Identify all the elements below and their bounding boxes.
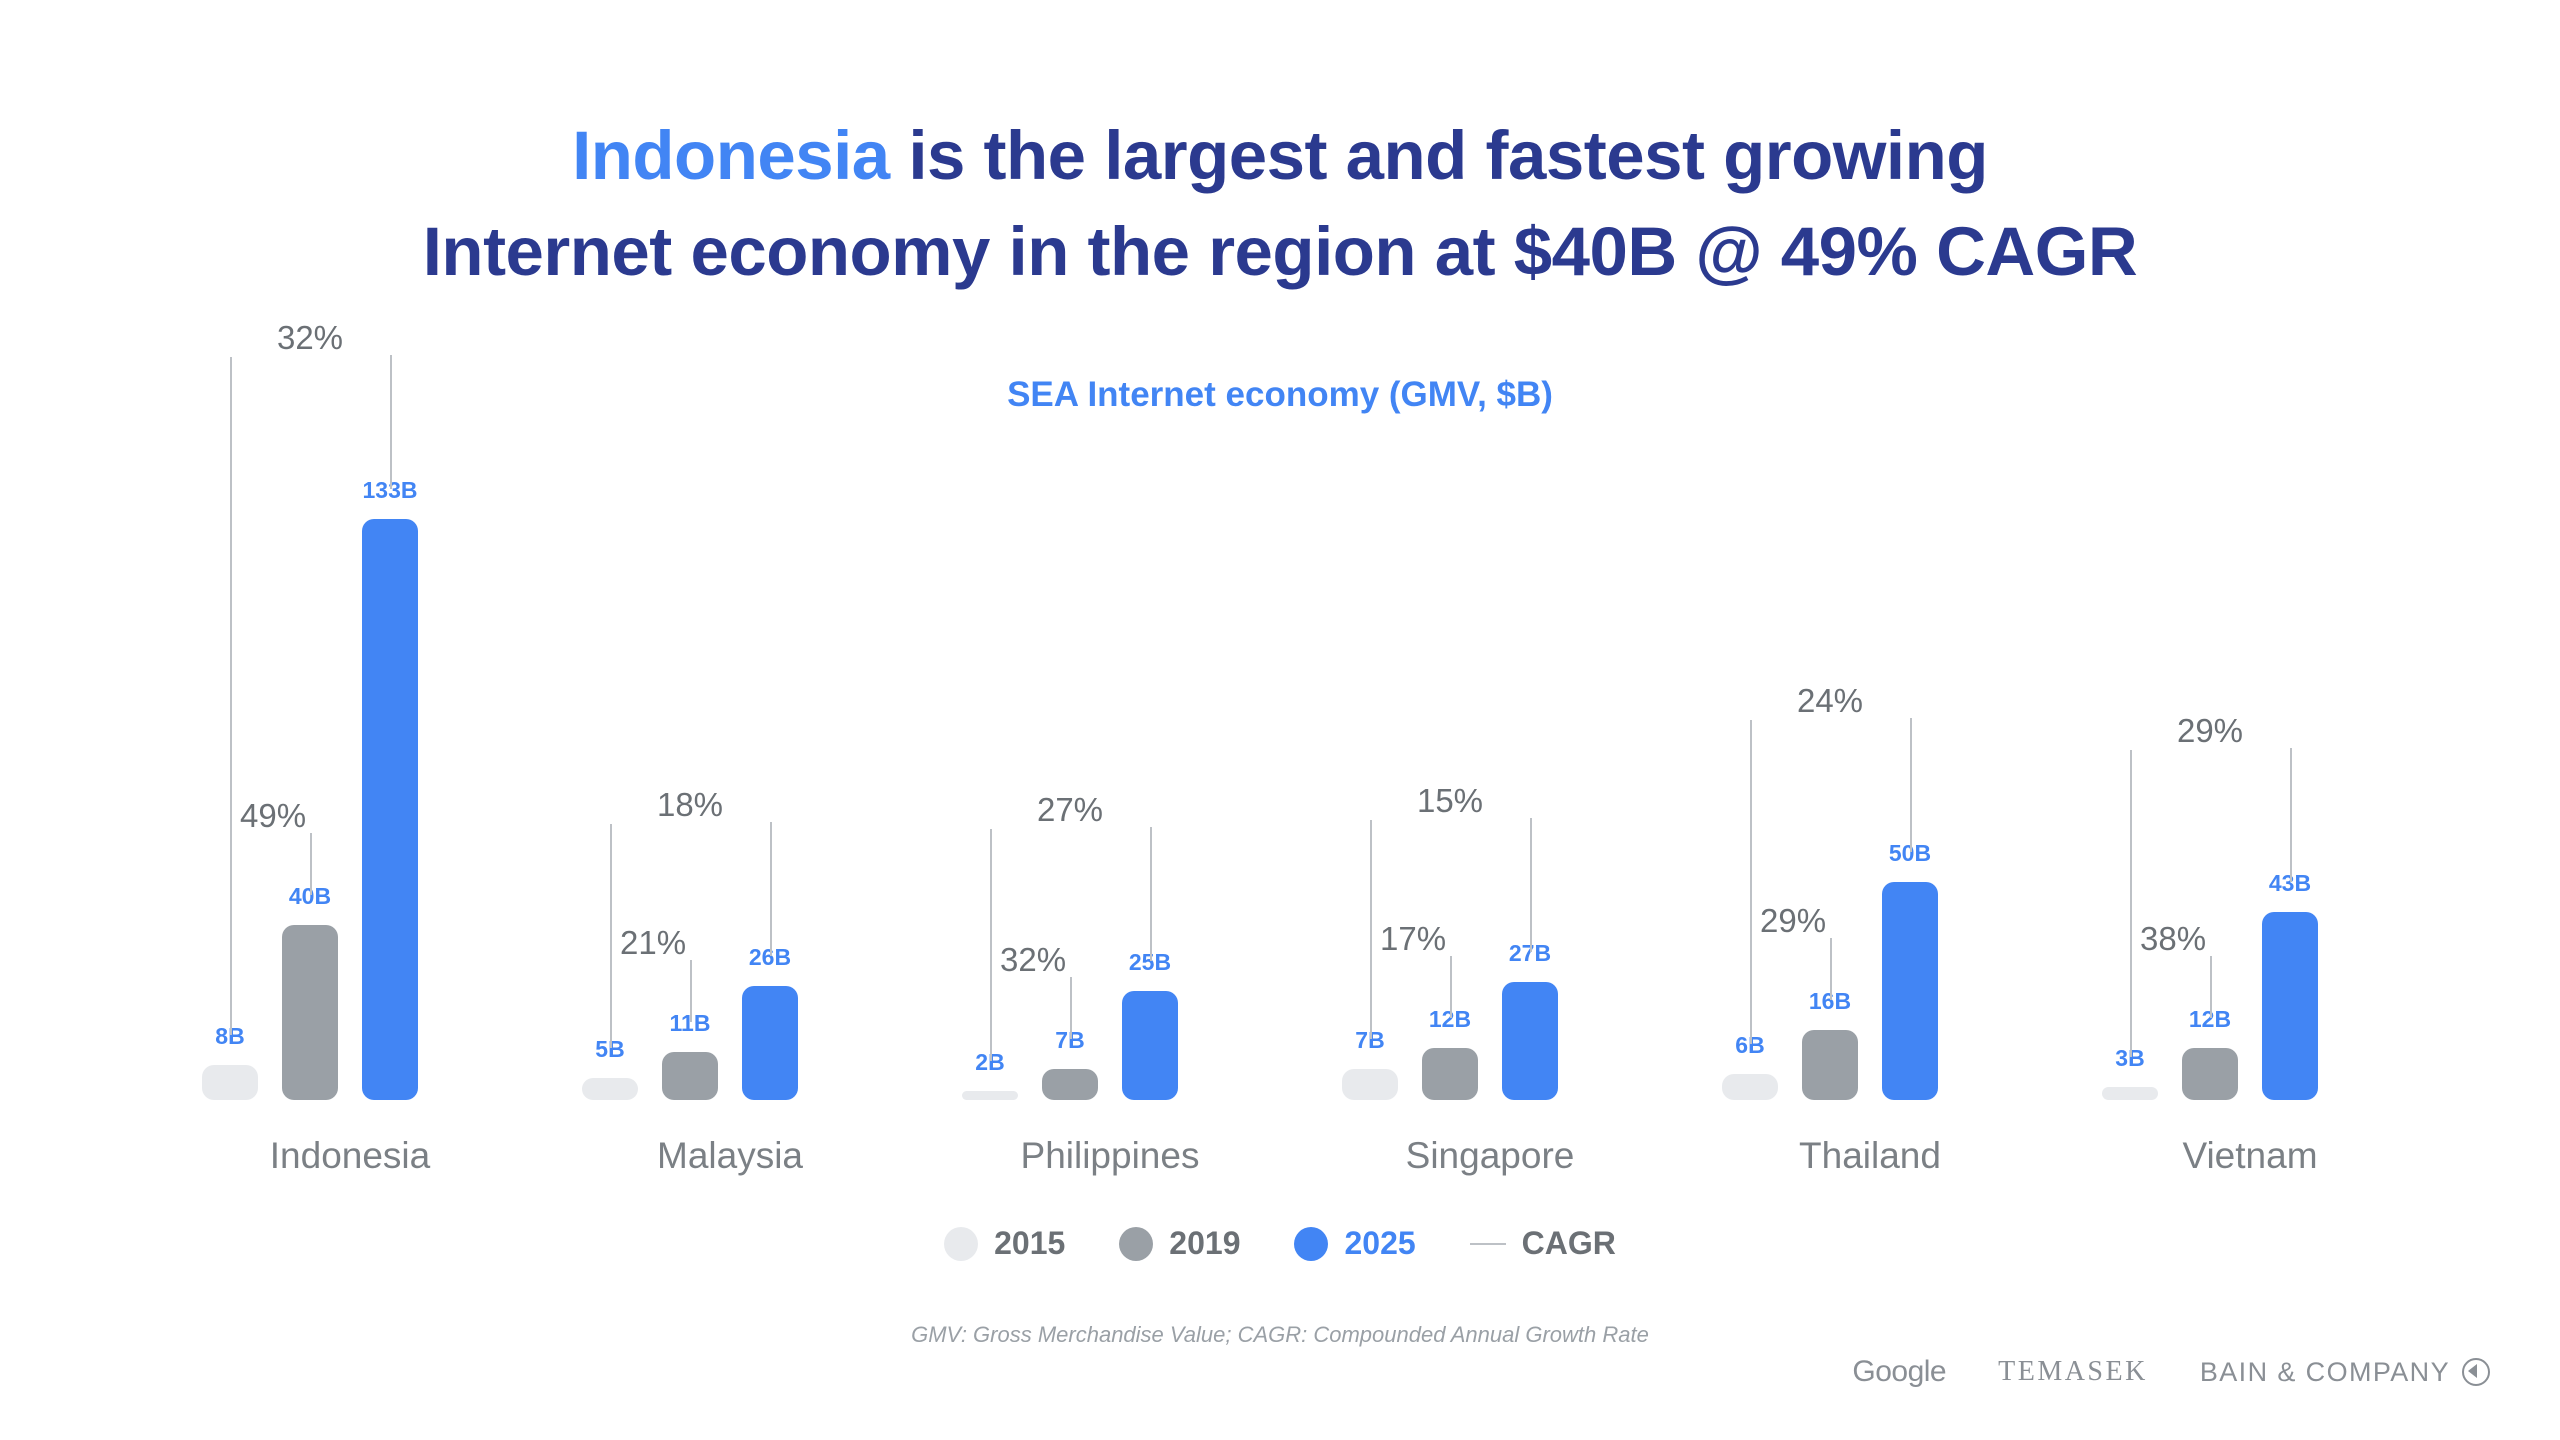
- country-group: 7B12B27B17%15%Singapore: [1330, 0, 1650, 1440]
- cagr-bracket-tick-left: [230, 355, 232, 1035]
- bar-2015: [962, 1091, 1018, 1100]
- legend-item-2015[interactable]: 2015: [944, 1225, 1065, 1262]
- chart-legend: 201520192025CAGR: [0, 1225, 2560, 1262]
- bar-2015: [582, 1078, 638, 1100]
- cagr-value-label: 17%: [1370, 920, 1450, 958]
- cagr-bracket-tick-right: [1830, 938, 1832, 1000]
- bar-2015: [202, 1065, 258, 1100]
- legend-item-2019[interactable]: 2019: [1119, 1225, 1240, 1262]
- legend-item-cagr[interactable]: CAGR: [1470, 1225, 1616, 1262]
- bain-circle-icon: [2462, 1358, 2490, 1386]
- cagr-value-label: 21%: [610, 924, 690, 962]
- cagr-bracket-tick-right: [1450, 956, 1452, 1018]
- cagr-bracket-tick-right: [1910, 718, 1912, 852]
- legend-item-2025[interactable]: 2025: [1294, 1225, 1415, 1262]
- chart-footnote: GMV: Gross Merchandise Value; CAGR: Comp…: [0, 1322, 2560, 1348]
- legend-label: 2015: [994, 1225, 1065, 1262]
- cagr-bracket-tick-left: [990, 827, 992, 1062]
- bar-2015: [2102, 1087, 2158, 1100]
- country-axis-label: Indonesia: [190, 1135, 510, 1177]
- bar-2015: [1342, 1069, 1398, 1100]
- legend-label: CAGR: [1522, 1225, 1616, 1262]
- bar-2019: [1042, 1069, 1098, 1100]
- cagr-value-label: 32%: [990, 941, 1070, 979]
- country-axis-label: Singapore: [1330, 1135, 1650, 1177]
- cagr-bracket-tick-right: [1070, 977, 1072, 1039]
- cagr-bracket-tick-right: [390, 355, 392, 489]
- bar-2025: [2262, 912, 2318, 1100]
- cagr-bracket-tick-right: [310, 833, 312, 895]
- cagr-value-label: 32%: [230, 319, 390, 357]
- cagr-value-label: 49%: [230, 797, 310, 835]
- cagr-value-label: 29%: [1750, 902, 1830, 940]
- bain-logo-text: BAIN & COMPANY: [2200, 1357, 2450, 1388]
- bar-2025: [1502, 982, 1558, 1100]
- country-group: 2B7B25B32%27%Philippines: [950, 0, 1270, 1440]
- bar-2025: [1122, 991, 1178, 1100]
- temasek-logo: TEMASEK: [1998, 1356, 2148, 1388]
- cagr-bracket-tick-left: [1750, 718, 1752, 1044]
- cagr-bracket-tick-right: [1530, 818, 1532, 952]
- cagr-value-label: 27%: [990, 791, 1150, 829]
- bar-2019: [282, 925, 338, 1100]
- cagr-bracket-tick-left: [610, 822, 612, 1048]
- bar-2025: [742, 986, 798, 1100]
- cagr-bracket-tick-right: [690, 960, 692, 1022]
- cagr-bracket-tick-right: [1150, 827, 1152, 961]
- bar-2015: [1722, 1074, 1778, 1100]
- cagr-bracket-tick-left: [1370, 818, 1372, 1039]
- bar-2019: [1422, 1048, 1478, 1100]
- bar-2025: [362, 519, 418, 1100]
- bar-2025: [1882, 882, 1938, 1101]
- country-group: 6B16B50B29%24%Thailand: [1710, 0, 2030, 1440]
- legend-swatch-icon: [944, 1227, 978, 1261]
- bar-2019: [662, 1052, 718, 1100]
- country-group: 5B11B26B21%18%Malaysia: [570, 0, 890, 1440]
- cagr-value-label: 24%: [1750, 682, 1910, 720]
- google-logo: Google: [1852, 1355, 1946, 1389]
- bar-2019: [2182, 1048, 2238, 1100]
- legend-dash-icon: [1470, 1243, 1506, 1245]
- legend-swatch-icon: [1294, 1227, 1328, 1261]
- legend-label: 2019: [1169, 1225, 1240, 1262]
- country-axis-label: Thailand: [1710, 1135, 2030, 1177]
- country-axis-label: Malaysia: [570, 1135, 890, 1177]
- country-axis-label: Philippines: [950, 1135, 1270, 1177]
- country-group: 3B12B43B38%29%Vietnam: [2090, 0, 2410, 1440]
- footer-logos: Google TEMASEK BAIN & COMPANY: [1852, 1355, 2490, 1389]
- cagr-value-label: 38%: [2130, 920, 2210, 958]
- cagr-value-label: 29%: [2130, 712, 2290, 750]
- cagr-bracket-tick-right: [2290, 748, 2292, 882]
- bar-chart: 8B40B133B49%32%Indonesia5B11B26B21%18%Ma…: [0, 0, 2560, 1440]
- cagr-bracket-tick-right: [770, 822, 772, 956]
- cagr-value-label: 18%: [610, 786, 770, 824]
- bain-company-logo: BAIN & COMPANY: [2200, 1357, 2490, 1388]
- country-axis-label: Vietnam: [2090, 1135, 2410, 1177]
- cagr-bracket-tick-right: [2210, 956, 2212, 1018]
- cagr-value-label: 15%: [1370, 782, 1530, 820]
- cagr-bracket-tick-left: [2130, 748, 2132, 1057]
- legend-label: 2025: [1344, 1225, 1415, 1262]
- country-group: 8B40B133B49%32%Indonesia: [190, 0, 510, 1440]
- bar-2019: [1802, 1030, 1858, 1100]
- legend-swatch-icon: [1119, 1227, 1153, 1261]
